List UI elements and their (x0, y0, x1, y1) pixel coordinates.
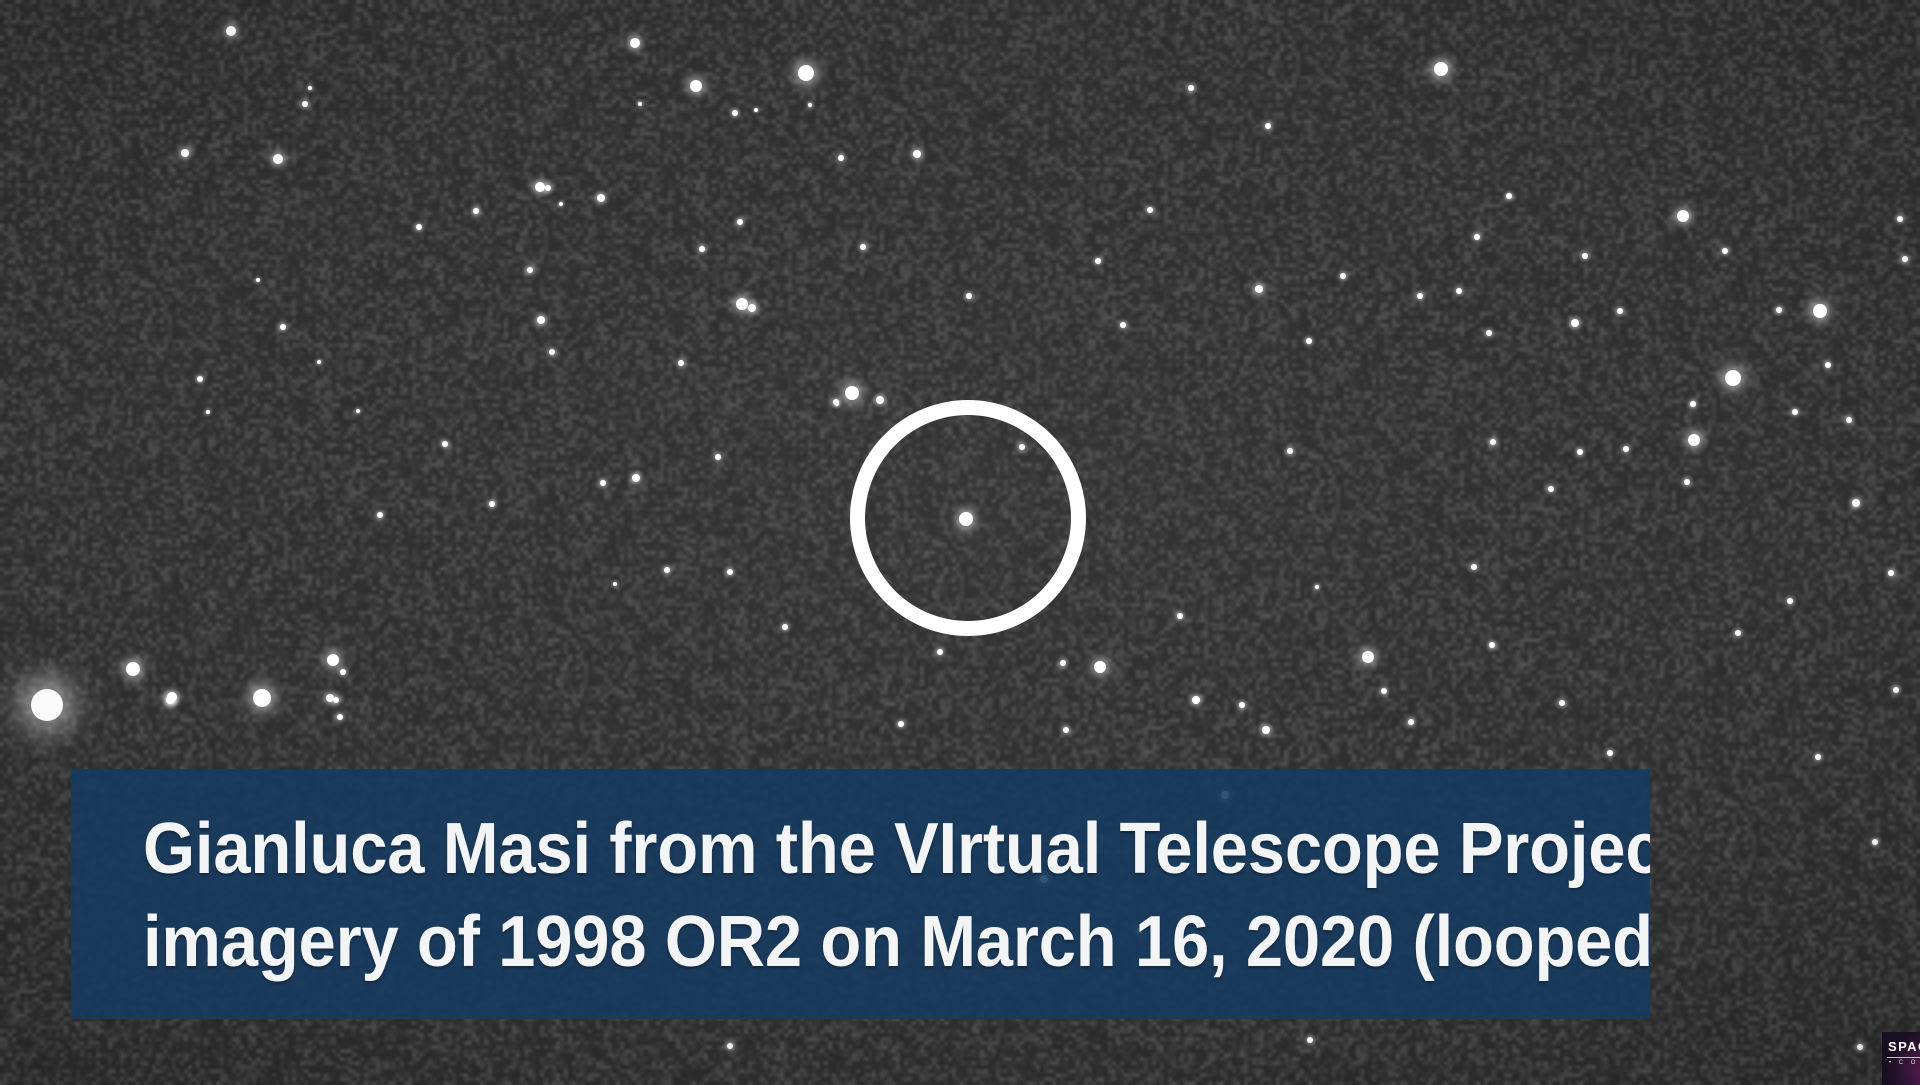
star (1722, 248, 1728, 254)
star (527, 267, 533, 273)
star (754, 108, 758, 112)
star (678, 360, 684, 366)
star (169, 696, 175, 702)
star (559, 202, 563, 206)
star (690, 80, 702, 92)
star (167, 692, 177, 702)
star (473, 208, 479, 214)
star (1857, 1044, 1863, 1050)
star (1306, 338, 1312, 344)
star (1902, 256, 1908, 262)
star (253, 689, 271, 707)
star (1559, 700, 1565, 706)
video-frame: Gianluca Masi from the VIrtual Telescope… (0, 0, 1920, 1085)
star (597, 194, 605, 202)
star (1177, 613, 1183, 619)
star (1815, 754, 1821, 760)
star (835, 402, 839, 406)
star (937, 649, 943, 655)
star (326, 694, 334, 702)
star (798, 65, 814, 81)
star (1063, 727, 1069, 733)
star (340, 669, 346, 675)
star (545, 185, 551, 191)
caption-line-2: imagery of 1998 OR2 on March 16, 2020 (l… (143, 896, 1545, 989)
star (1188, 85, 1194, 91)
star (1239, 702, 1245, 708)
star (845, 386, 859, 400)
star (898, 721, 904, 727)
star (549, 349, 555, 355)
star (1340, 273, 1346, 279)
star (1684, 479, 1690, 485)
star (1506, 193, 1512, 199)
star (1265, 123, 1271, 129)
star (860, 244, 866, 250)
star (1060, 660, 1066, 666)
star (1147, 207, 1153, 213)
star (1776, 307, 1782, 313)
star (168, 698, 174, 704)
star (613, 582, 617, 586)
star (197, 376, 203, 382)
caption-text: Gianluca Masi from the VIrtual Telescope… (143, 803, 1545, 989)
star (535, 182, 545, 192)
star (1690, 401, 1696, 407)
star (808, 103, 812, 107)
star (1456, 288, 1462, 294)
star (1897, 216, 1903, 222)
star (1893, 687, 1899, 693)
star (715, 454, 721, 460)
star (1381, 688, 1387, 694)
star (308, 86, 312, 90)
star (1577, 449, 1583, 455)
star (1408, 719, 1414, 725)
star (727, 1043, 733, 1049)
star (1677, 210, 1689, 222)
star (1582, 253, 1588, 259)
star (1688, 434, 1700, 446)
star (280, 324, 286, 330)
star (226, 26, 236, 36)
star (206, 410, 210, 414)
star (537, 316, 545, 324)
star (166, 696, 174, 704)
star (1571, 319, 1579, 327)
star (333, 697, 339, 703)
star (838, 155, 844, 161)
star (1489, 642, 1495, 648)
star (1888, 570, 1894, 576)
star (727, 569, 733, 575)
star (1417, 293, 1423, 299)
caption-banner: Gianluca Masi from the VIrtual Telescope… (71, 769, 1650, 1019)
star (442, 441, 448, 447)
star (664, 567, 670, 573)
star (273, 154, 283, 164)
star (1825, 362, 1831, 368)
star (876, 396, 884, 404)
star (1813, 304, 1827, 318)
star (256, 278, 260, 282)
star (737, 219, 743, 225)
star (1490, 439, 1496, 445)
star (1307, 1037, 1313, 1043)
star (1120, 322, 1126, 328)
star (1094, 661, 1106, 673)
star (736, 298, 748, 310)
watermark-subtitle-text: • C O M • (1889, 1060, 1920, 1066)
star (1315, 585, 1319, 589)
star (1095, 258, 1101, 264)
star (1792, 409, 1798, 415)
star (699, 246, 705, 252)
star (833, 399, 839, 405)
space-com-watermark: SPACE • C O M • (1882, 1032, 1920, 1085)
star (632, 474, 640, 482)
star (1852, 499, 1860, 507)
star (31, 689, 63, 721)
star (1192, 696, 1200, 704)
star (600, 480, 606, 486)
star (959, 512, 973, 526)
star (630, 38, 640, 48)
star (1607, 750, 1613, 756)
star (1019, 444, 1025, 450)
star (1872, 839, 1878, 845)
star (1617, 308, 1623, 314)
caption-line-1: Gianluca Masi from the VIrtual Telescope… (143, 803, 1545, 896)
star (1471, 564, 1477, 570)
star (337, 714, 343, 720)
star (1735, 630, 1741, 636)
star (1725, 370, 1741, 386)
star (966, 293, 972, 299)
star (732, 110, 738, 116)
star (638, 102, 642, 106)
star (181, 149, 189, 157)
star (327, 654, 339, 666)
star (1787, 598, 1793, 604)
star (356, 409, 360, 413)
star (782, 624, 788, 630)
star (317, 360, 321, 364)
star (302, 101, 308, 107)
watermark-brand-text: SPACE (1888, 1039, 1920, 1054)
star (416, 224, 422, 230)
star (1486, 330, 1492, 336)
star (126, 662, 140, 676)
star (1846, 417, 1852, 423)
star (1434, 62, 1448, 76)
star (1362, 651, 1374, 663)
star (1623, 446, 1629, 452)
star (1262, 726, 1270, 734)
star (913, 150, 921, 158)
star (377, 512, 383, 518)
star (1548, 486, 1554, 492)
watermark-divider (1887, 1057, 1920, 1058)
star (1287, 448, 1293, 454)
star (1474, 234, 1480, 240)
star (1255, 285, 1263, 293)
star (489, 501, 495, 507)
star (748, 304, 756, 312)
